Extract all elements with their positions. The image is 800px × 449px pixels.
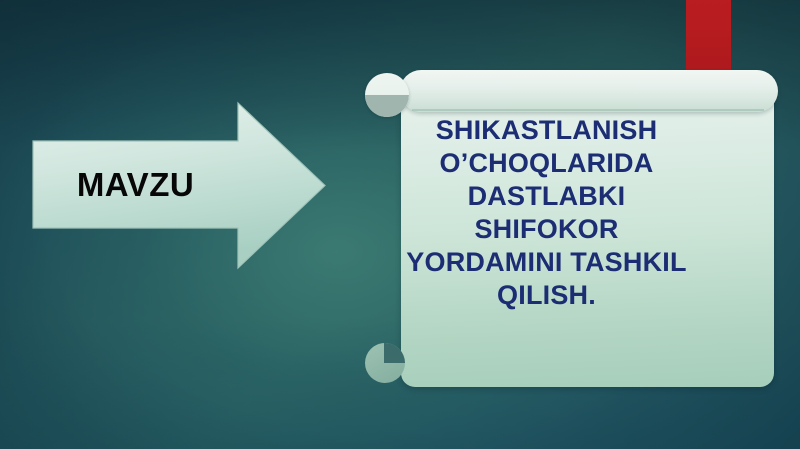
scroll-curl-top-left-icon bbox=[365, 73, 409, 117]
scroll-title-text: SHIKASTLANISH O’CHOQLARIDA DASTLABKI SHI… bbox=[376, 114, 717, 312]
scroll-text-line: QILISH. bbox=[376, 279, 717, 312]
scroll-roll-seam bbox=[412, 109, 764, 111]
scroll-curl-bottom-left-icon bbox=[365, 343, 405, 383]
scroll-top-roll bbox=[400, 70, 778, 112]
scroll-text-line: O’CHOQLARIDA bbox=[376, 147, 717, 180]
arrow-label-mavzu: MAVZU bbox=[33, 141, 238, 228]
presentation-slide: MAVZU SHIKASTLANISH O’CHOQLARIDA DASTLAB… bbox=[0, 0, 800, 449]
scroll-text-line: DASTLABKI bbox=[376, 180, 717, 213]
scroll-text-line: SHIFOKOR bbox=[376, 213, 717, 246]
scroll-text-line: SHIKASTLANISH bbox=[376, 114, 717, 147]
scroll-banner: SHIKASTLANISH O’CHOQLARIDA DASTLABKI SHI… bbox=[360, 62, 785, 392]
scroll-text-line: YORDAMINI TASHKIL bbox=[376, 246, 717, 279]
